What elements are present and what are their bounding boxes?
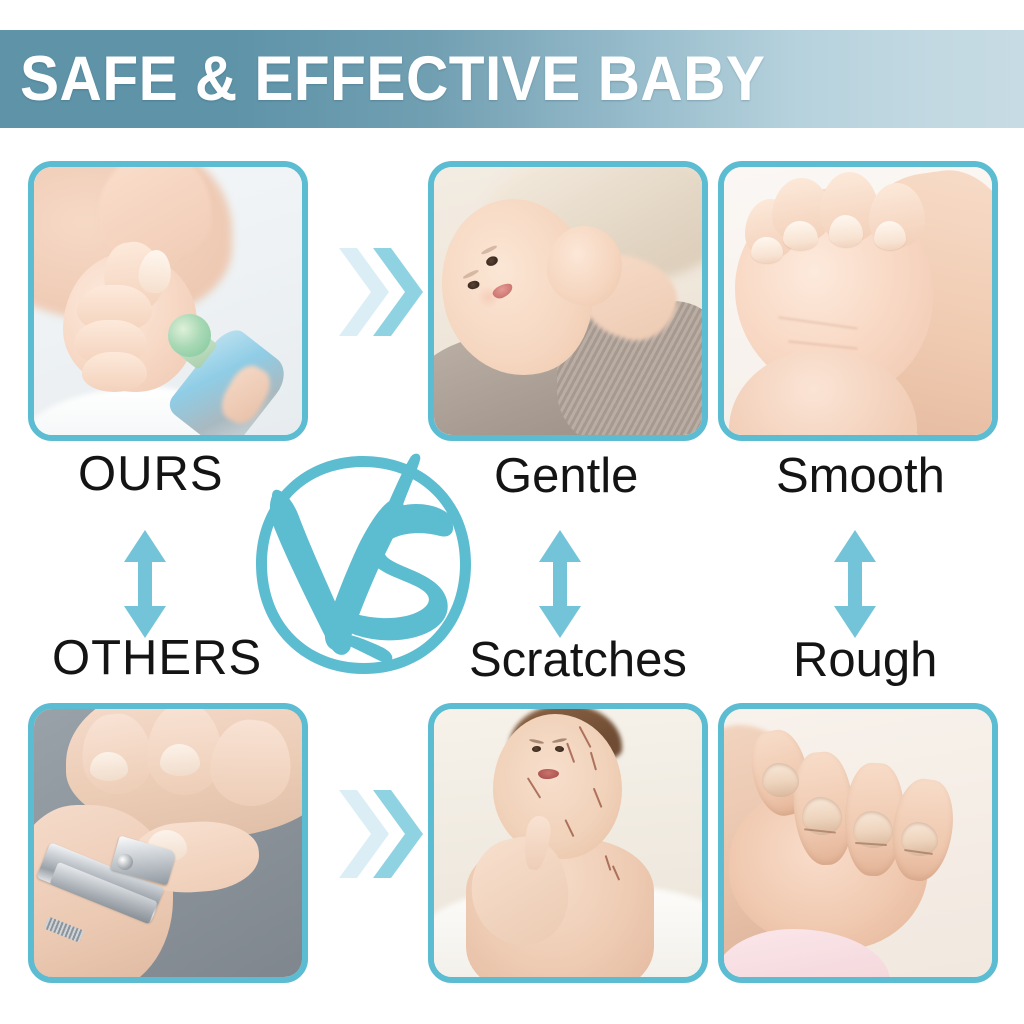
photo-others-rough: [718, 703, 998, 983]
scene-metal-clipper: [34, 709, 302, 977]
chevron-right-bottom: [335, 784, 425, 884]
photo-ours-product: [28, 161, 308, 441]
vertical-double-arrow-smooth-rough: [832, 528, 878, 640]
label-rough: Rough: [793, 636, 937, 685]
chevron-right-top: [335, 242, 425, 342]
chevron-pale-icon: [339, 790, 389, 878]
fingernail: [90, 752, 128, 781]
label-scratches: Scratches: [469, 636, 687, 685]
vertical-double-arrow-gentle-scratches: [537, 528, 583, 640]
chevron-pale-icon: [339, 248, 389, 336]
nail-clipper-pin: [117, 854, 133, 870]
adult-thumb: [98, 167, 211, 258]
baby-eye: [554, 746, 564, 753]
baby-crying-mouth: [538, 769, 559, 779]
double-arrow-icon: [124, 530, 166, 638]
scene-smooth-nails: [724, 167, 992, 435]
rough-nail: [762, 763, 800, 798]
baby-eyebrow: [462, 269, 478, 279]
header-banner: SAFE & EFFECTIVE BABY: [0, 30, 1024, 128]
baby-eye: [484, 255, 499, 268]
vertical-double-arrow-ours-others: [122, 528, 168, 640]
label-smooth: Smooth: [776, 452, 945, 501]
label-gentle: Gentle: [494, 452, 638, 501]
baby-eyebrow: [480, 245, 496, 255]
scene-ours-product: [34, 167, 302, 435]
double-arrow-icon: [539, 530, 581, 638]
double-arrow-icon: [834, 530, 876, 638]
baby-eyebrow: [529, 739, 545, 745]
photo-ours-smooth: [718, 161, 998, 441]
baby-finger: [82, 352, 146, 392]
photo-ours-gentle: [428, 161, 708, 441]
baby-eye: [531, 746, 541, 753]
vs-badge: [238, 440, 488, 690]
photo-others-scratches: [428, 703, 708, 983]
scene-gentle-baby: [434, 167, 702, 435]
photo-others-product: [28, 703, 308, 983]
label-ours: OURS: [78, 450, 224, 499]
banner-title: SAFE & EFFECTIVE BABY: [20, 48, 765, 111]
label-others: OTHERS: [52, 634, 262, 683]
baby-eye: [467, 280, 481, 291]
scene-crying-baby: [434, 709, 702, 977]
smooth-nail: [829, 215, 864, 247]
scene-rough-nails: [724, 709, 992, 977]
electric-trimmer-head: [168, 314, 211, 357]
baby-hand: [547, 226, 622, 306]
smooth-nail: [751, 237, 783, 264]
